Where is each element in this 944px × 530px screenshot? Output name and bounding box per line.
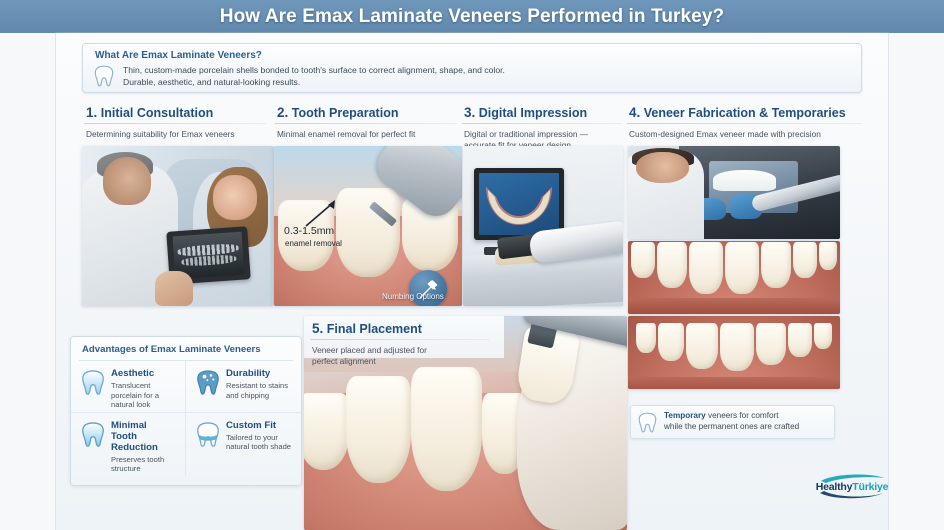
temporary-note-line-2: while the permanent ones are crafted — [664, 422, 799, 433]
page-title: How Are Emax Laminate Veneers Performed … — [0, 0, 944, 33]
temporary-note-text: Temporary veneers for comfort while the … — [664, 411, 799, 432]
temporary-note-bold: Temporary — [664, 411, 706, 420]
intro-box: What Are Emax Laminate Veneers? Thin, cu… — [82, 43, 862, 93]
advantage-desc-custom-fit: Tailored to your natural tooth shade — [226, 433, 296, 452]
tooth-icon — [93, 64, 115, 88]
brand-logo[interactable]: HealthyTürkiye — [815, 472, 889, 502]
infographic-page: How Are Emax Laminate Veneers Performed … — [0, 0, 944, 530]
step-5-number: 5. — [312, 321, 323, 336]
step-4-heading: 4. Veneer Fabrication & Temporaries — [629, 105, 846, 120]
step-4-number: 4. — [629, 105, 640, 120]
step-4-rule — [627, 123, 862, 124]
tooth-icon-aesthetic — [80, 368, 106, 410]
step-4-image-bottom-upper — [628, 241, 840, 314]
step-1-heading: 1. Initial Consultation — [86, 105, 213, 120]
advantage-heading-minimal: Minimal — [111, 420, 180, 431]
step-3-title: Digital Impression — [479, 106, 587, 120]
logo-word-healthy: Healthy — [816, 481, 853, 493]
intro-line-2: Durable, aesthetic, and natural-looking … — [123, 77, 505, 89]
step-1-number: 1. — [86, 105, 97, 120]
tooth-icon-custom-fit — [195, 420, 221, 474]
intro-line-1: Thin, custom-made porcelain shells bonde… — [123, 65, 505, 77]
advantage-desc-aesthetic: Translucent porcelain for a natural look — [111, 381, 180, 410]
advantage-heading-custom-fit: Custom Fit — [226, 420, 296, 431]
advantage-item-minimal: Minimal Tooth Reduction Preserves tooth … — [71, 413, 186, 476]
step-4-image-bottom-lower — [628, 316, 840, 389]
step-3-image — [463, 146, 623, 306]
content-canvas: What Are Emax Laminate Veneers? Thin, cu… — [56, 33, 888, 530]
enamel-removal-arrow-icon — [304, 198, 340, 228]
step-3-number: 3. — [464, 105, 475, 120]
advantage-heading-durability: Durability — [226, 368, 296, 379]
step-2-rule — [275, 123, 457, 124]
step-4-title: Veneer Fabrication & Temporaries — [644, 106, 846, 120]
step-2-heading: 2. Tooth Preparation — [277, 105, 398, 120]
advantage-desc-minimal: Preserves tooth structure — [111, 455, 180, 474]
temporary-note-line-1: veneers for comfort — [706, 411, 779, 420]
advantages-box: Advantages of Emax Laminate Veneers Aest… — [70, 336, 302, 486]
logo-word-turkiye: Türkiye — [852, 481, 888, 493]
step-1-title: Initial Consultation — [101, 106, 214, 120]
tooth-icon — [637, 411, 658, 434]
step-2-number: 2. — [277, 105, 288, 120]
step-5-title: Final Placement — [327, 322, 422, 336]
step-2-title: Tooth Preparation — [292, 106, 399, 120]
step-5-heading: 5. Final Placement — [312, 321, 422, 336]
logo-text: HealthyTürkiye — [815, 481, 889, 493]
advantage-subheading-minimal: Tooth Reduction — [111, 431, 180, 453]
temporary-veneers-note: Temporary veneers for comfort while the … — [630, 405, 835, 439]
step-3-rule — [462, 123, 622, 124]
step-4-caption: Custom-designed Emax veneer made with pr… — [629, 129, 864, 140]
step-2-image: 0.3-1.5mm enamel removal Numbing Options — [274, 146, 462, 306]
advantage-item-aesthetic: Aesthetic Translucent porcelain for a na… — [71, 361, 186, 413]
step-3-caption-line-1: Digital or traditional impression — — [464, 129, 614, 140]
step-3-heading: 3. Digital Impression — [464, 105, 587, 120]
advantage-item-durability: Durability Resistant to stains and chipp… — [186, 361, 301, 413]
numbing-options-label: Numbing Options — [382, 292, 444, 301]
step-5-caption: Veneer placed and adjusted for perfect a… — [312, 345, 472, 366]
tooth-icon-durability — [195, 368, 221, 410]
step-4-image-top — [628, 146, 840, 239]
advantages-title: Advantages of Emax Laminate Veneers — [71, 337, 301, 355]
step-2-caption: Minimal enamel removal for perfect fit — [277, 129, 462, 140]
advantage-desc-durability: Resistant to stains and chipping — [226, 381, 296, 400]
step-5-caption-line-1: Veneer placed and adjusted for — [312, 345, 472, 356]
step-5-caption-line-2: perfect alignment — [312, 356, 472, 367]
step-5-rule — [310, 339, 490, 340]
intro-title: What Are Emax Laminate Veneers? — [95, 50, 851, 61]
step-1-caption: Determining suitability for Emax veneers — [86, 129, 276, 140]
step-1-rule — [84, 123, 266, 124]
tooth-icon-minimal — [80, 420, 106, 474]
intro-text: Thin, custom-made porcelain shells bonde… — [123, 64, 505, 88]
enamel-removal-label: enamel removal — [285, 239, 342, 248]
advantage-item-custom-fit: Custom Fit Tailored to your natural toot… — [186, 413, 301, 476]
enamel-removal-value: 0.3-1.5mm — [284, 225, 334, 237]
advantage-heading-aesthetic: Aesthetic — [111, 368, 180, 379]
step-1-image — [82, 146, 274, 306]
